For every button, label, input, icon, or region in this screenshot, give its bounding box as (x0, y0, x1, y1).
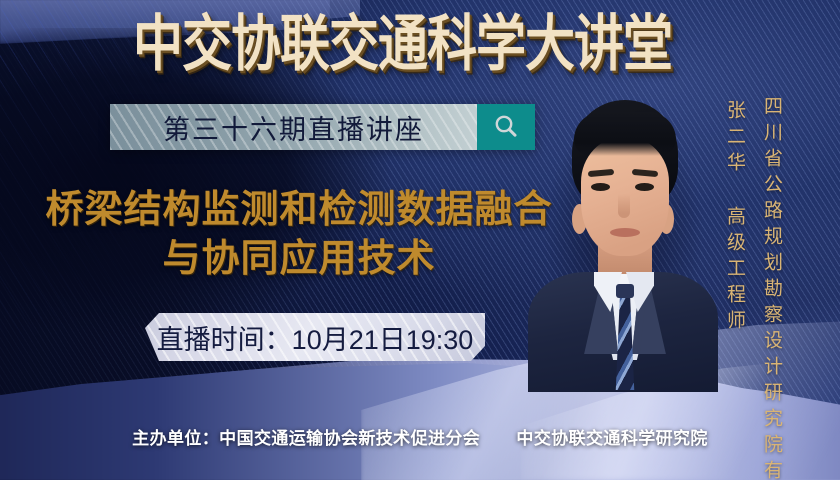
footer-organizer: 主办单位：中国交通运输协会新技术促进分会 (132, 429, 480, 448)
portrait-tie-knot (616, 284, 634, 298)
search-icon[interactable] (477, 104, 535, 150)
portrait-nose (618, 194, 630, 218)
session-banner: 第三十六期直播讲座 (110, 104, 535, 150)
live-lecture-poster: 中交协联交通科学大讲堂 第三十六期直播讲座 桥梁结构监测和检测数据融合 与协同应… (0, 0, 840, 480)
session-label: 第三十六期直播讲座 (163, 108, 424, 147)
footer-co-organizer: 中交协联交通科学研究院 (516, 429, 707, 448)
lecture-topic-line2: 与协同应用技术 (34, 235, 564, 284)
page-title: 中交协联交通科学大讲堂 (133, 7, 713, 80)
footer-organizers: 主办单位：中国交通运输协会新技术促进分会 中交协联交通科学研究院 (0, 424, 840, 449)
portrait-hair-fringe (574, 112, 676, 156)
portrait-eye-left (591, 183, 610, 191)
broadcast-time-label: 直播时间：10月21日19:30 (157, 318, 474, 357)
speaker-name-title: 张二华 高级工程师 (721, 100, 748, 336)
lecture-topic: 桥梁结构监测和检测数据融合 与协同应用技术 (34, 186, 564, 283)
session-banner-body: 第三十六期直播讲座 (110, 104, 477, 150)
lecture-topic-line1: 桥梁结构监测和检测数据融合 (45, 189, 552, 231)
speaker-organization: 四川省公路规划勘察设计研究院有限公司 (758, 96, 785, 480)
portrait-mouth (610, 228, 640, 237)
broadcast-time-badge: 直播时间：10月21日19:30 (145, 313, 485, 361)
portrait-eye-right (635, 183, 654, 191)
